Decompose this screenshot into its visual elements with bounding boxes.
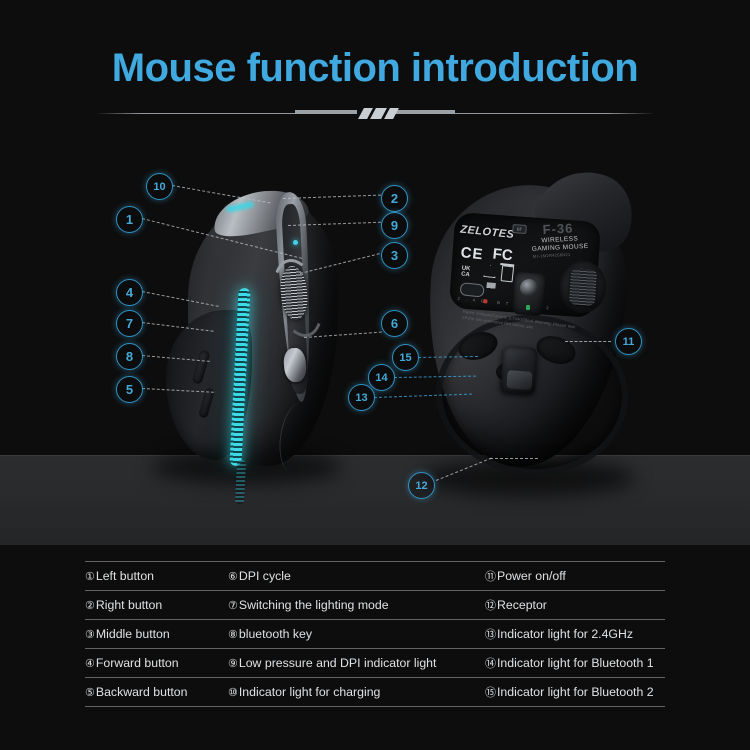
legend-number-8: ⑧ bbox=[228, 629, 238, 641]
legend-label-11: Power on/off bbox=[497, 569, 566, 583]
legend-number-4: ④ bbox=[85, 658, 95, 670]
legend-number-5: ⑤ bbox=[85, 687, 95, 699]
legend-number-9: ⑨ bbox=[228, 658, 238, 670]
legend-label-1: Left button bbox=[96, 569, 154, 583]
power-switch-knob bbox=[569, 268, 597, 306]
legend-cell-3: ③Middle button bbox=[85, 627, 228, 641]
callout-8[interactable]: 8 bbox=[116, 343, 143, 370]
callout-1[interactable]: 1 bbox=[116, 206, 143, 233]
brand-name: ZELOTES bbox=[460, 223, 515, 241]
ce-mark-icon: CE bbox=[460, 244, 484, 263]
legend-number-7: ⑦ bbox=[228, 600, 238, 612]
legend-label-7: Switching the lighting mode bbox=[239, 598, 389, 612]
legend-label-3: Middle button bbox=[96, 627, 170, 641]
callout-9[interactable]: 9 bbox=[381, 212, 408, 239]
legend-number-14: ⑭ bbox=[485, 658, 496, 670]
serial-number: MJ-1M2R4256N21 bbox=[533, 252, 571, 259]
legend-label-9: Low pressure and DPI indicator light bbox=[239, 656, 437, 670]
table-row: ③Middle button ⑧bluetooth key ⑬Indicator… bbox=[85, 619, 665, 648]
page-title: Mouse function introduction bbox=[0, 46, 750, 91]
ukca-line2: CA bbox=[461, 271, 470, 278]
legend-cell-5: ⑤Backward button bbox=[85, 685, 228, 699]
table-row: ④Forward button ⑨Low pressure and DPI in… bbox=[85, 648, 665, 677]
callout-14[interactable]: 14 bbox=[368, 364, 395, 391]
legend-cell-2: ②Right button bbox=[85, 598, 228, 612]
legend-label-12: Receptor bbox=[497, 598, 547, 612]
ukca-mark-icon: UK CA bbox=[461, 265, 471, 278]
legend-label-14: Indicator light for Bluetooth 1 bbox=[497, 656, 654, 670]
fcc-mark-icon: FC bbox=[492, 245, 514, 264]
legend-cell-1: ①Left button bbox=[85, 569, 228, 583]
sensor-led bbox=[526, 305, 530, 310]
divider-bar-left bbox=[295, 110, 357, 114]
model-number: F-36 bbox=[542, 220, 573, 237]
legend-table: ①Left button ⑥DPI cycle ⑪Power on/off ②R… bbox=[85, 561, 665, 707]
product-type-line2: GAMING MOUSE bbox=[532, 242, 589, 252]
callout-6[interactable]: 6 bbox=[381, 310, 408, 337]
legend-cell-15: ⑮Indicator light for Bluetooth 2 bbox=[485, 684, 665, 700]
legend-number-11: ⑪ bbox=[485, 571, 496, 583]
callout-4[interactable]: 4 bbox=[116, 279, 143, 306]
dpi-indicator-light bbox=[293, 240, 298, 245]
callout-2[interactable]: 2 bbox=[381, 185, 408, 212]
usb-receiver bbox=[506, 370, 532, 390]
legend-number-15: ⑮ bbox=[485, 687, 496, 699]
legend-label-6: DPI cycle bbox=[239, 569, 291, 583]
legend-label-13: Indicator light for 2.4GHz bbox=[497, 627, 633, 641]
callout-3[interactable]: 3 bbox=[381, 242, 408, 269]
legend-number-13: ⑬ bbox=[485, 629, 496, 641]
callout-15[interactable]: 15 bbox=[392, 344, 419, 371]
callout-10[interactable]: 10 bbox=[146, 173, 173, 200]
header-divider bbox=[95, 107, 655, 121]
mouse-side-view bbox=[160, 170, 355, 470]
legend-label-8: bluetooth key bbox=[239, 627, 312, 641]
table-row: ①Left button ⑥DPI cycle ⑪Power on/off bbox=[85, 561, 665, 590]
legend-label-15: Indicator light for Bluetooth 2 bbox=[497, 685, 654, 699]
legend-label-4: Forward button bbox=[96, 656, 179, 670]
bluetooth-icon: BT bbox=[512, 224, 527, 234]
legend-cell-12: ⑫Receptor bbox=[485, 597, 665, 613]
legend-cell-14: ⑭Indicator light for Bluetooth 1 bbox=[485, 655, 665, 671]
battery-icon bbox=[485, 282, 495, 297]
legend-number-2: ② bbox=[85, 600, 95, 612]
legend-number-3: ③ bbox=[85, 629, 95, 641]
callout-12[interactable]: 12 bbox=[408, 472, 435, 499]
page-header: Mouse function introduction bbox=[0, 0, 750, 125]
leader-line-12b bbox=[490, 458, 538, 459]
legend-cell-8: ⑧bluetooth key bbox=[228, 627, 485, 641]
mouse-bottom-view: ZELOTES ® BT F-36 WIRELESS GAMING MOUSE … bbox=[418, 165, 648, 485]
legend-label-10: Indicator light for charging bbox=[239, 685, 381, 699]
legend-cell-6: ⑥DPI cycle bbox=[228, 569, 485, 583]
recycle-triangle-icon bbox=[483, 264, 497, 278]
legend-cell-11: ⑪Power on/off bbox=[485, 568, 665, 584]
legend-cell-7: ⑦Switching the lighting mode bbox=[228, 598, 485, 612]
leader-line-11 bbox=[565, 341, 611, 342]
weee-bin-icon bbox=[501, 265, 515, 282]
legend-cell-10: ⑩Indicator light for charging bbox=[228, 685, 485, 699]
table-row: ⑤Backward button ⑩Indicator light for ch… bbox=[85, 677, 665, 707]
legend-number-6: ⑥ bbox=[228, 571, 238, 583]
legend-number-1: ① bbox=[85, 571, 95, 583]
legend-cell-9: ⑨Low pressure and DPI indicator light bbox=[228, 656, 485, 670]
legend-number-12: ⑫ bbox=[485, 600, 496, 612]
frequency-indicator-dot bbox=[483, 299, 487, 303]
callout-13[interactable]: 13 bbox=[348, 384, 375, 411]
callout-7[interactable]: 7 bbox=[116, 310, 143, 337]
divider-bar-right bbox=[393, 110, 455, 114]
callout-11[interactable]: 11 bbox=[615, 328, 642, 355]
legend-cell-13: ⑬Indicator light for 2.4GHz bbox=[485, 626, 665, 642]
legend-cell-4: ④Forward button bbox=[85, 656, 228, 670]
legend-label-5: Backward button bbox=[96, 685, 188, 699]
product-type: WIRELESS GAMING MOUSE bbox=[531, 235, 589, 253]
legend-label-2: Right button bbox=[96, 598, 162, 612]
legend-number-10: ⑩ bbox=[228, 687, 238, 699]
table-row: ②Right button ⑦Switching the lighting mo… bbox=[85, 590, 665, 619]
callout-5[interactable]: 5 bbox=[116, 376, 143, 403]
